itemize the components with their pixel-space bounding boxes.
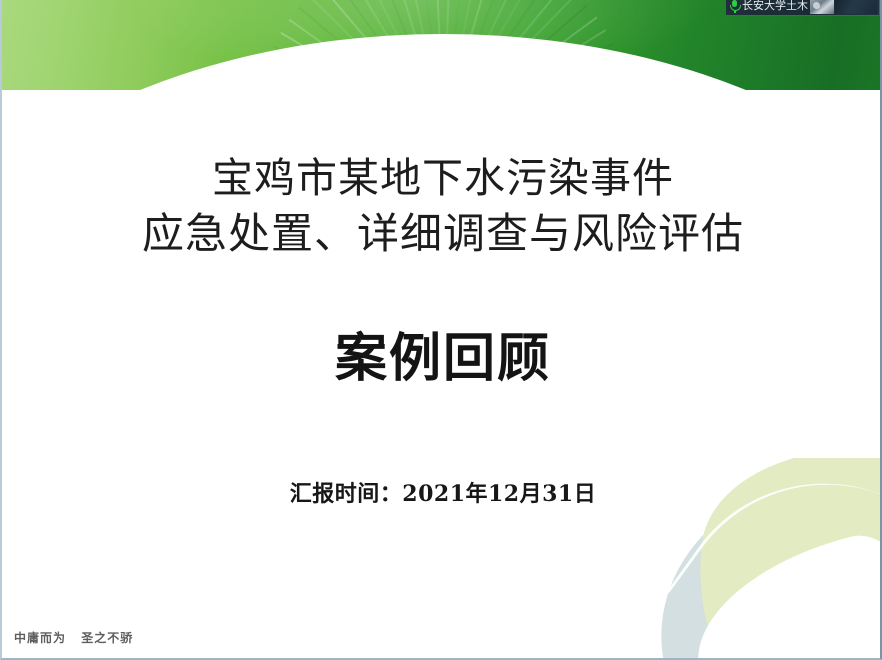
participant-video-thumbnail-secondary[interactable] <box>835 0 877 14</box>
video-participant-overlay[interactable]: 长安大学土木 <box>725 0 880 16</box>
report-date: 汇报时间：2021年12月31日 <box>2 476 882 508</box>
presentation-slide: 宝鸡市某地下水污染事件 应急处置、详细调查与风险评估 案例回顾 汇报时间：202… <box>0 0 882 660</box>
footer-motto: 中庸而为 圣之不骄 <box>14 629 143 646</box>
motto-left: 中庸而为 <box>14 631 66 645</box>
slide-content: 宝鸡市某地下水污染事件 应急处置、详细调查与风险评估 案例回顾 汇报时间：202… <box>2 0 882 660</box>
participant-video-thumbnail[interactable] <box>810 0 834 14</box>
participant-name-label: 长安大学土木 <box>742 0 808 12</box>
title-line-1: 宝鸡市某地下水污染事件 <box>2 150 882 206</box>
microphone-icon[interactable] <box>730 0 739 13</box>
title-line-2: 应急处置、详细调查与风险评估 <box>2 206 882 262</box>
motto-right: 圣之不骄 <box>81 631 133 645</box>
page-title: 宝鸡市某地下水污染事件 应急处置、详细调查与风险评估 <box>2 150 882 262</box>
slide-subtitle: 案例回顾 <box>2 328 882 390</box>
